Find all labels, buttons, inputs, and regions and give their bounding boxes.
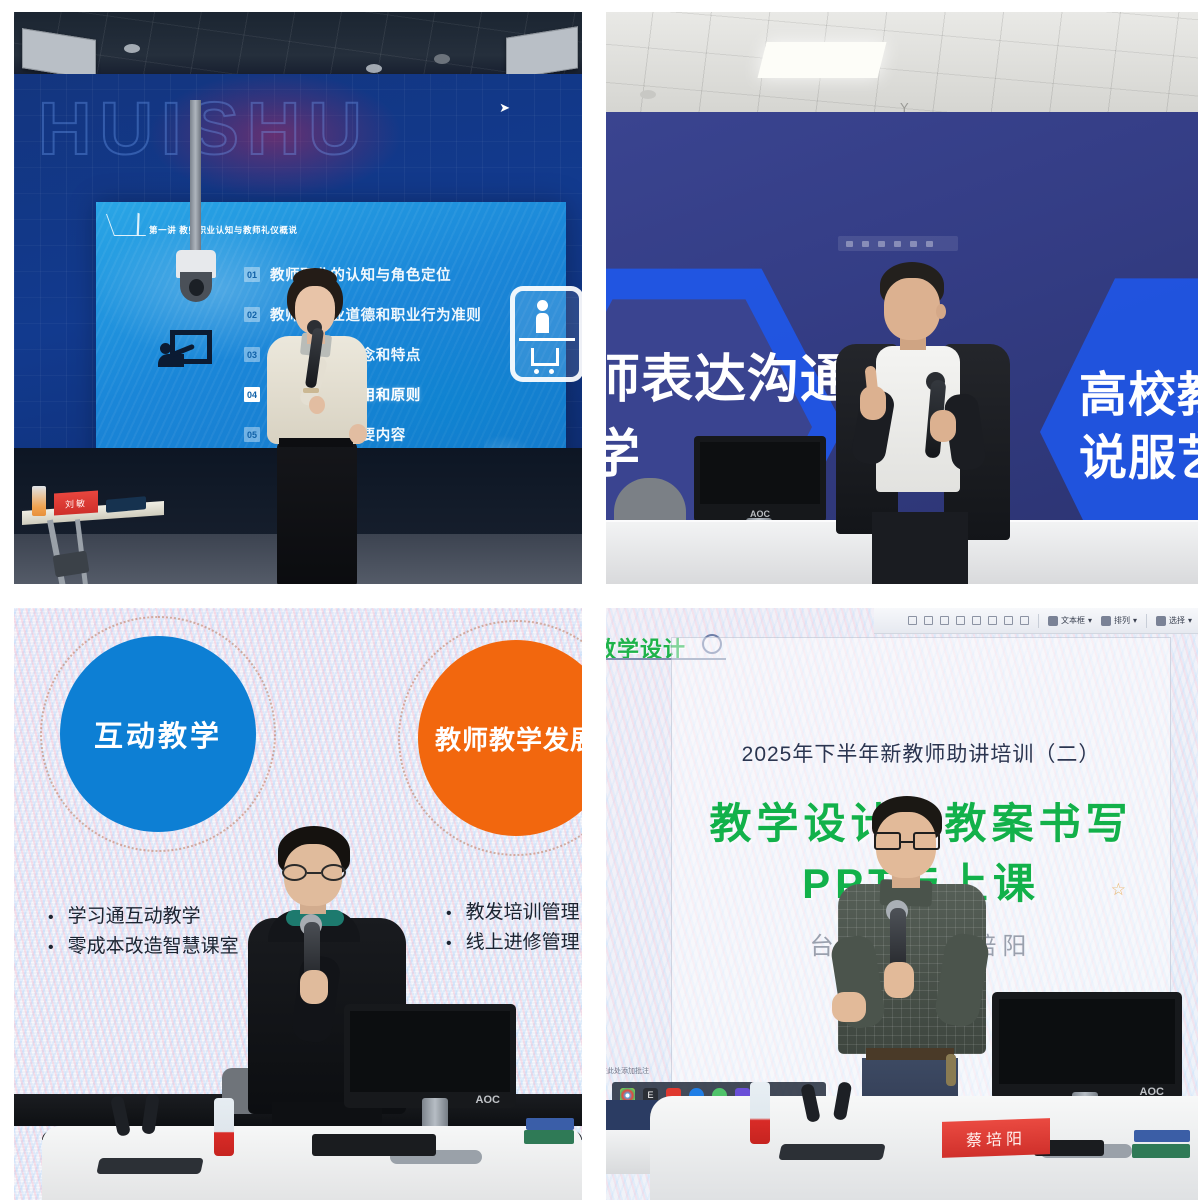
list-item: • 线上进修管理 bbox=[446, 928, 580, 958]
control-icon-2[interactable] bbox=[862, 241, 869, 247]
microphone-base bbox=[96, 1158, 203, 1174]
desk-book-green bbox=[1132, 1144, 1190, 1158]
display-control-bar[interactable] bbox=[838, 236, 958, 251]
bullet-text: 教发培训管理 bbox=[466, 898, 580, 928]
grid-edge-top bbox=[0, 0, 1200, 12]
bullet-list-left: • 学习通互动教学 • 零成本改造智慧课室 bbox=[48, 902, 239, 963]
control-icon-4[interactable] bbox=[894, 241, 901, 247]
bullet-text: 零成本改造智慧课室 bbox=[68, 932, 239, 962]
bullet-text: 线上进修管理 bbox=[466, 928, 580, 958]
microphone-holder bbox=[110, 1092, 182, 1154]
mouse-cursor-icon: ➤ bbox=[499, 100, 510, 116]
slide-header-text: 第一讲 教师职业认知与教师礼仪概说 bbox=[149, 224, 298, 236]
control-icon-1[interactable] bbox=[846, 241, 853, 247]
nameplate-text: 刘敏 bbox=[65, 496, 87, 511]
ceiling-light-panel bbox=[758, 42, 887, 78]
photo-panel-teacher-etiquette: HUISHU ➤ 第一讲 教师职业认知与教师礼仪概说 01 教师职业的认知与角色… bbox=[0, 0, 594, 596]
select-label: 选择 bbox=[1169, 615, 1185, 626]
arrange-label: 排列 bbox=[1114, 615, 1130, 626]
justify-icon[interactable] bbox=[956, 616, 965, 625]
ceiling-speaker-left bbox=[22, 28, 96, 80]
monitor-brand-label: AOC bbox=[476, 1094, 500, 1106]
slide-right-title: 高校教 说服艺 bbox=[1079, 364, 1200, 491]
document-subtitle: 2025年下半年新教师助讲培训（二） bbox=[672, 738, 1170, 768]
wps-ribbon-toolbar[interactable]: 文本框 ▾ 排列 ▾ 选择 ▾ bbox=[874, 608, 1200, 634]
numbering-icon[interactable] bbox=[1004, 616, 1013, 625]
slide-header: 第一讲 教师职业认知与教师礼仪概说 bbox=[110, 214, 298, 236]
presenter-figure bbox=[826, 262, 1016, 584]
water-bottle bbox=[32, 486, 46, 516]
camera-lens-icon bbox=[189, 279, 204, 296]
water-bottle bbox=[214, 1098, 234, 1156]
list-item: • 学习通互动教学 bbox=[48, 902, 239, 932]
triangle-decoration-icon bbox=[106, 214, 146, 236]
microphone-base bbox=[778, 1144, 885, 1160]
glasses-icon bbox=[874, 832, 940, 850]
slide-right-title-line2: 说服艺 bbox=[1079, 427, 1200, 490]
paragraph-tools-group[interactable] bbox=[908, 616, 1029, 625]
microphone-holder bbox=[798, 1082, 872, 1140]
toolbar-separator bbox=[1038, 614, 1039, 628]
nameplate: 蔡培阳 bbox=[942, 1118, 1050, 1158]
control-icon-5[interactable] bbox=[910, 241, 917, 247]
chevron-down-icon[interactable]: ▾ bbox=[1088, 616, 1092, 625]
circle-label: 互动教学 bbox=[94, 713, 222, 755]
smoke-detector-icon bbox=[434, 54, 450, 64]
nameplate: 刘敏 bbox=[54, 490, 98, 515]
star-icon: ☆ bbox=[1111, 880, 1126, 900]
circle-label: 教师教学发展 bbox=[435, 720, 582, 757]
circle-interactive-teaching: 互动教学 bbox=[60, 636, 256, 832]
glasses-icon bbox=[282, 864, 346, 881]
led-wall-background: 师表达沟通与 学 高校教 说服艺 Presented with xmind AO… bbox=[594, 112, 1200, 584]
monitor: AOC bbox=[992, 992, 1182, 1100]
align-left-icon[interactable] bbox=[908, 616, 917, 625]
panel3-scene: 互动教学 教师教学发展 • 学习通互动教学 • 零成本改造智慧课室 bbox=[14, 608, 582, 1200]
panel1-scene: HUISHU ➤ 第一讲 教师职业认知与教师礼仪概说 01 教师职业的认知与角色… bbox=[14, 12, 582, 584]
bullet-marker: • bbox=[446, 901, 452, 927]
panel2-scene: Y 师表达沟通与 学 高校教 说服艺 bbox=[594, 12, 1200, 584]
chevron-down-icon[interactable]: ▾ bbox=[1188, 616, 1192, 625]
monitor: AOC bbox=[344, 1004, 516, 1108]
align-center-icon[interactable] bbox=[924, 616, 933, 625]
bullet-marker: • bbox=[48, 905, 54, 931]
arrange-icon bbox=[1101, 616, 1111, 626]
panel4-scene: 文本框 ▾ 排列 ▾ 选择 ▾ 教学设计 bbox=[594, 608, 1200, 1200]
control-icon-3[interactable] bbox=[878, 241, 885, 247]
grid-edge-left bbox=[0, 0, 14, 1200]
equipment-stand bbox=[52, 519, 104, 584]
photo-panel-interactive-teaching: 互动教学 教师教学发展 • 学习通互动教学 • 零成本改造智慧课室 bbox=[0, 596, 594, 1200]
arrange-button[interactable]: 排列 ▾ bbox=[1101, 615, 1137, 626]
bullets-icon[interactable] bbox=[988, 616, 997, 625]
bullet-text: 学习通互动教学 bbox=[68, 902, 201, 932]
photo-panel-expression-communication: Y 师表达沟通与 学 高校教 说服艺 bbox=[594, 0, 1200, 596]
ceiling-light-1 bbox=[124, 44, 140, 53]
photo-panel-lesson-design: 文本框 ▾ 排列 ▾ 选择 ▾ 教学设计 bbox=[594, 596, 1200, 1200]
nameplate-text: 蔡培阳 bbox=[966, 1125, 1026, 1151]
textbox-label: 文本框 bbox=[1061, 615, 1085, 626]
ceiling-light-2 bbox=[366, 64, 382, 73]
bullet-marker: • bbox=[48, 935, 54, 961]
textbox-button[interactable]: 文本框 ▾ bbox=[1048, 615, 1092, 626]
smoke-detector-icon bbox=[640, 90, 656, 99]
list-item: • 教发培训管理 bbox=[446, 898, 580, 928]
presenter-figure bbox=[257, 272, 377, 584]
monitor: AOC bbox=[694, 436, 826, 522]
camera-mount-pole bbox=[190, 100, 201, 256]
list-item: • 零成本改造智慧课室 bbox=[48, 932, 239, 962]
bullet-list-right: • 教发培训管理 • 线上进修管理 bbox=[446, 898, 580, 959]
water-bottle bbox=[750, 1082, 770, 1144]
margin-note-text: 在此处添加批注 bbox=[600, 1066, 649, 1076]
ceiling-speaker-right bbox=[506, 26, 578, 79]
wall-watermark-text: HUISHU bbox=[38, 86, 370, 171]
align-right-icon[interactable] bbox=[940, 616, 949, 625]
bullet-marker: • bbox=[446, 931, 452, 957]
led-wall-background: HUISHU ➤ 第一讲 教师职业认知与教师礼仪概说 01 教师职业的认知与角色… bbox=[14, 74, 582, 584]
person-cart-icon bbox=[510, 286, 582, 382]
desk-book-blue bbox=[1134, 1130, 1190, 1142]
slide-right-title-line1: 高校教 bbox=[1079, 364, 1200, 427]
desk-book-blue bbox=[526, 1118, 574, 1130]
keyboard[interactable] bbox=[312, 1134, 436, 1156]
textbox-icon bbox=[1048, 616, 1058, 626]
chevron-down-icon[interactable]: ▾ bbox=[1133, 616, 1137, 625]
desk-book-green bbox=[524, 1130, 574, 1144]
grid-gutter-horizontal bbox=[0, 596, 1200, 608]
shading-icon[interactable] bbox=[1020, 616, 1029, 625]
select-icon bbox=[1156, 616, 1166, 626]
toolbar-separator bbox=[1146, 614, 1147, 628]
control-icon-6[interactable] bbox=[926, 241, 933, 247]
ceiling-tiles: Y bbox=[594, 12, 1200, 120]
select-button[interactable]: 选择 ▾ bbox=[1156, 615, 1192, 626]
teacher-at-board-icon bbox=[158, 330, 212, 372]
line-spacing-icon[interactable] bbox=[972, 616, 981, 625]
